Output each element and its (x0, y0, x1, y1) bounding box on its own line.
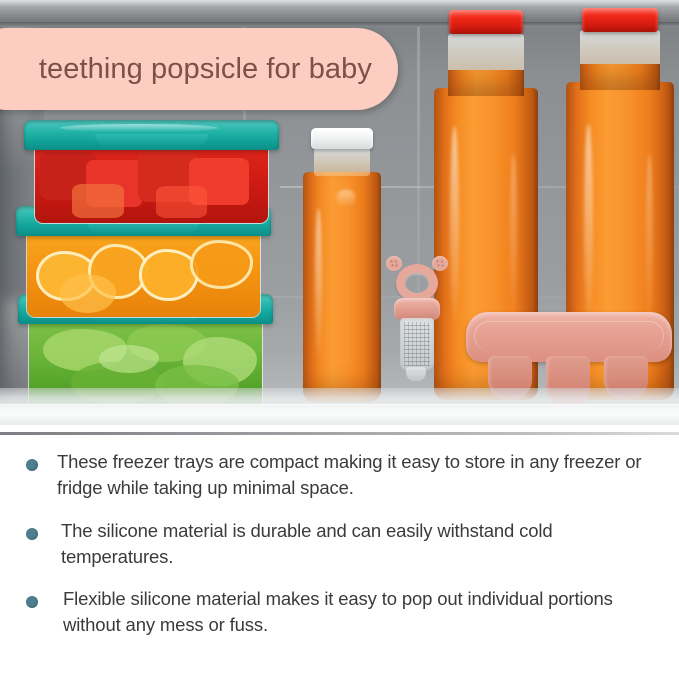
bottle-highlight (584, 124, 593, 324)
small-juice-bottle (303, 128, 381, 402)
section-divider (0, 425, 679, 441)
container-glass-body (34, 142, 269, 224)
teether-ear-left (386, 256, 402, 271)
bottle-juice-sparkle (337, 190, 355, 206)
tray-lid (466, 312, 672, 362)
bottle-neck-glass (314, 148, 370, 176)
feature-text: Flexible silicone material makes it easy… (57, 586, 661, 639)
divider-line (0, 432, 679, 435)
bottle-cap-red (582, 8, 658, 32)
container-contents-peppers (35, 142, 268, 223)
list-item: Flexible silicone material makes it easy… (26, 586, 661, 639)
bottle-cap-red (449, 10, 523, 34)
container-lid-teal (24, 120, 279, 150)
container-contents-oranges (27, 228, 260, 317)
product-photo: teething popsicle for baby (0, 0, 679, 428)
teether-mesh-basket (400, 318, 434, 370)
teether-ear-right (432, 256, 448, 271)
teether-ring-handle (396, 264, 438, 302)
product-listing-image: teething popsicle for baby These freezer… (0, 0, 679, 679)
feature-text: The silicone material is durable and can… (57, 518, 661, 571)
bottle-upper-juice (580, 64, 660, 90)
headline-banner: teething popsicle for baby (0, 28, 398, 110)
bottle-highlight (646, 154, 653, 324)
feature-text: These freezer trays are compact making i… (57, 449, 661, 502)
teether-tip (406, 367, 426, 381)
stacked-food-container-peppers (24, 120, 279, 224)
stacked-food-containers (12, 118, 282, 408)
bottle-highlight (450, 126, 459, 321)
bullet-dot-icon (26, 528, 38, 540)
bullet-dot-icon (26, 459, 38, 471)
teether-collar (394, 298, 440, 320)
bullet-dot-icon (26, 596, 38, 608)
list-item: These freezer trays are compact making i… (26, 449, 661, 502)
feature-list: These freezer trays are compact making i… (0, 443, 679, 679)
list-item: The silicone material is durable and can… (26, 518, 661, 571)
container-glass-body (26, 228, 261, 318)
pink-silicone-teether-feeder (384, 252, 450, 400)
bottle-cap-white (311, 128, 373, 149)
bottle-upper-juice (448, 70, 524, 96)
bottle-highlight (315, 208, 322, 358)
headline-text: teething popsicle for baby (39, 53, 372, 86)
tray-lid-seam (474, 321, 664, 351)
container-lid-tab (95, 134, 207, 148)
bottle-highlight (510, 153, 517, 318)
